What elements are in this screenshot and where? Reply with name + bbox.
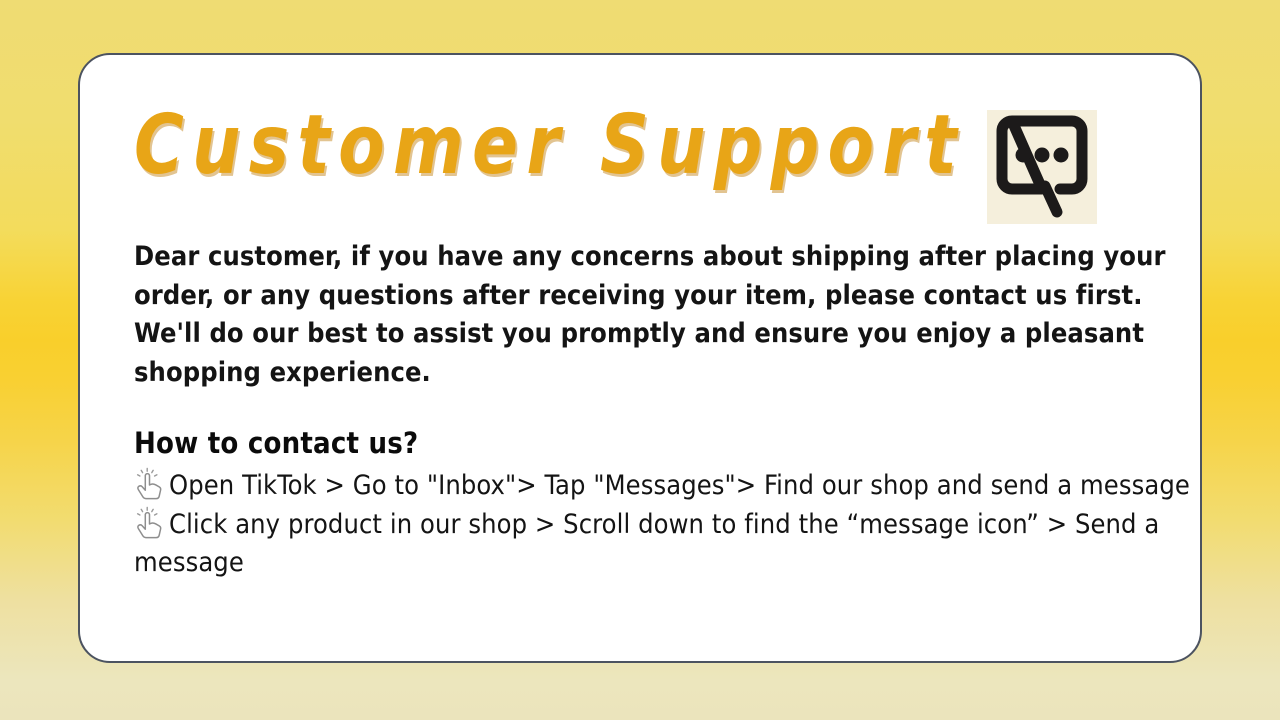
customer-support-card: Customer Support Dear customer, if you h…: [78, 53, 1202, 663]
list-item: Click any product in our shop > Scroll d…: [134, 506, 1194, 583]
page-title: Customer Support: [134, 105, 965, 187]
contact-steps-list: Open TikTok > Go to "Inbox"> Tap "Messag…: [134, 467, 1194, 583]
list-item: Open TikTok > Go to "Inbox"> Tap "Messag…: [134, 467, 1194, 506]
speech-bubble-dots-icon: [987, 110, 1097, 224]
how-to-contact-heading: How to contact us?: [134, 426, 418, 460]
pointing-hand-click-icon: [134, 506, 164, 540]
slide-canvas: Customer Support Dear customer, if you h…: [0, 0, 1280, 720]
list-item-label: Open TikTok > Go to "Inbox"> Tap "Messag…: [169, 470, 1190, 501]
card-header: Customer Support: [80, 55, 1200, 235]
intro-paragraph: Dear customer, if you have any concerns …: [134, 238, 1174, 392]
list-item-label: Click any product in our shop > Scroll d…: [134, 509, 1159, 579]
pointing-hand-click-icon: [134, 467, 164, 501]
